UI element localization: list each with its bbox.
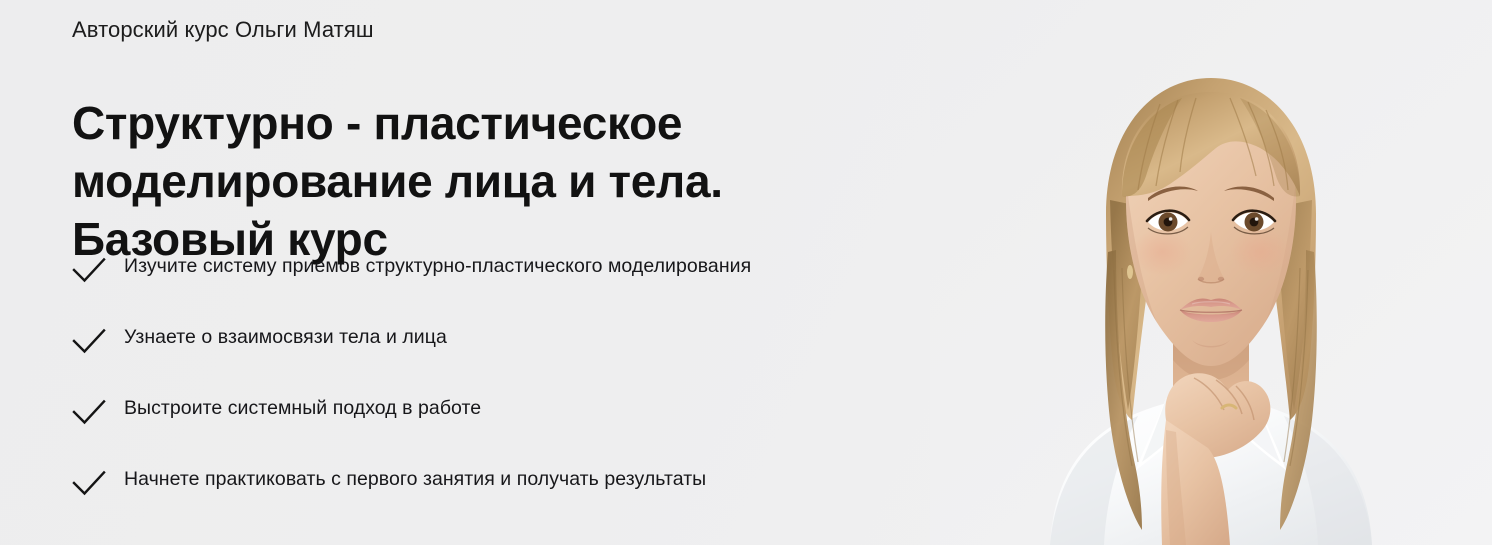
page-title-line-2: моделирование лица и тела. [72,152,872,210]
list-item-text: Узнаете о взаимосвязи тела и лица [124,323,892,351]
eyebrow-label: Авторский курс Ольги Матяш [72,15,374,45]
list-item: Узнаете о взаимосвязи тела и лица [72,323,892,373]
list-item: Изучите систему приемов структурно-пласт… [72,252,892,302]
check-icon [72,470,106,496]
check-icon [72,328,106,354]
list-item: Начнете практиковать с первого занятия и… [72,465,892,515]
page-title: Структурно - пластическое моделирование … [72,94,872,268]
list-item-text-line: Узнаете о взаимосвязи тела и лица [124,323,892,351]
check-icon [72,257,106,283]
list-item-text: Выстроите системный подход в работе [124,394,892,422]
hero-text-column: Авторский курс Ольги Матяш Структурно - … [72,0,892,545]
list-item-text-line: Начнете практиковать с первого занятия и… [124,465,892,493]
list-item-text-line: Выстроите системный подход в работе [124,394,892,422]
list-item-text-line: В процессе обучения освоите индивидуальн… [124,541,892,545]
check-icon [72,399,106,425]
list-item-text: Начнете практиковать с первого занятия и… [124,465,892,493]
page-title-line-1: Структурно - пластическое [72,94,872,152]
list-item-text: В процессе обучения освоите индивидуальн… [124,541,892,545]
list-item: Выстроите системный подход в работе [72,394,892,444]
list-item-text: Изучите систему приемов структурно-пласт… [124,252,892,280]
list-item: В процессе обучения освоите индивидуальн… [72,541,892,545]
list-item-text-line: Изучите систему приемов структурно-пласт… [124,252,892,280]
benefits-list: Изучите систему приемов структурно-пласт… [72,252,892,545]
hero-banner: Авторский курс Ольги Матяш Структурно - … [0,0,1492,545]
portrait-photo [930,0,1492,545]
